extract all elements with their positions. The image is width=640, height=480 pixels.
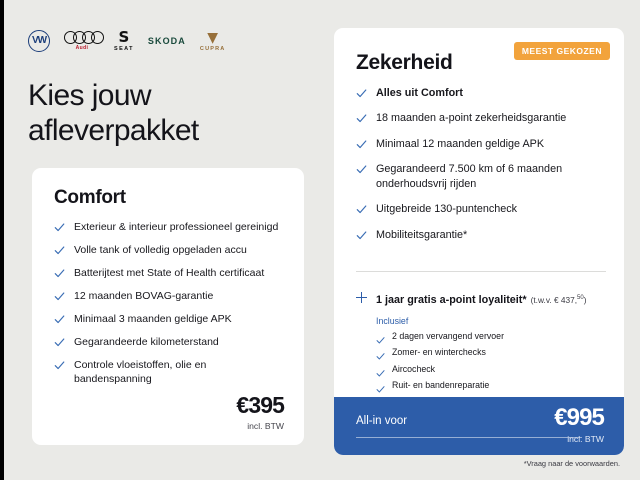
allin-rule: [356, 437, 582, 438]
feature-text: Controle vloeistoffen, olie en bandenspa…: [74, 358, 286, 386]
loyalty-value: (t.w.v. € 437,50): [531, 295, 587, 305]
plus-icon: [356, 292, 367, 303]
list-item: 2 dagen vervangend vervoer: [376, 331, 566, 342]
brand-logo-strip: VW Audi S SEAT SKODA ▼ CUPRA: [28, 30, 225, 52]
skoda-wordmark: SKODA: [148, 36, 186, 46]
allin-label: All-in voor: [356, 415, 407, 427]
feature-text: Minimaal 3 maanden geldige APK: [74, 312, 232, 326]
check-icon: [54, 222, 65, 233]
check-icon: [356, 204, 367, 215]
list-item: 12 maanden BOVAG-garantie: [54, 289, 286, 303]
list-item: Gegarandeerde kilometerstand: [54, 335, 286, 349]
check-icon: [356, 164, 367, 175]
list-item: Gegarandeerd 7.500 km of 6 maanden onder…: [356, 162, 606, 191]
list-item: Controle vloeistoffen, olie en bandenspa…: [54, 358, 286, 386]
comfort-price: €395: [236, 394, 284, 417]
check-icon: [376, 348, 385, 357]
zekerheid-price-note: incl. BTW: [554, 434, 604, 444]
zekerheid-title: Zekerheid: [356, 51, 453, 75]
feature-text: 12 maanden BOVAG-garantie: [74, 289, 213, 303]
status-badge: MEEST GEKOZEN: [514, 42, 610, 60]
inclusief-title: Inclusief: [376, 316, 566, 326]
cupra-mark: ▼: [207, 31, 218, 45]
vw-mark: VW: [28, 30, 50, 52]
cupra-logo-icon: ▼ CUPRA: [200, 31, 226, 52]
list-item: Minimaal 12 maanden geldige APK: [356, 137, 606, 151]
zekerheid-feature-list: Alles uit Comfort18 maanden a-point zeke…: [356, 86, 606, 253]
allin-price-bar: All-in voor €995 incl. BTW: [334, 397, 624, 455]
list-item: Aircocheck: [376, 364, 566, 375]
comfort-price-note: incl. BTW: [236, 421, 284, 431]
check-icon: [376, 381, 385, 390]
check-icon: [356, 139, 367, 150]
feature-text: 18 maanden a-point zekerheidsgarantie: [376, 111, 566, 125]
comfort-feature-list: Exterieur & interieur professioneel gere…: [54, 220, 286, 396]
list-item: Exterieur & interieur professioneel gere…: [54, 220, 286, 234]
zekerheid-price: €995: [554, 406, 604, 430]
list-item: Uitgebreide 130-puntencheck: [356, 202, 606, 216]
inclusief-list: 2 dagen vervangend vervoerZomer- en wint…: [376, 331, 566, 392]
check-icon: [376, 332, 385, 341]
inclusief-text: Ruit- en bandenreparatie: [392, 380, 489, 391]
audi-wordmark: Audi: [76, 45, 89, 51]
seat-logo-icon: S SEAT: [114, 30, 134, 52]
check-icon: [54, 314, 65, 325]
list-item: Ruit- en bandenreparatie: [376, 380, 566, 391]
seat-mark: S: [119, 30, 130, 45]
zekerheid-package-card[interactable]: MEEST GEKOZEN Zekerheid Alles uit Comfor…: [334, 28, 624, 455]
feature-text: Mobiliteitsgarantie*: [376, 228, 467, 242]
skoda-logo-icon: SKODA: [148, 36, 186, 46]
divider: [356, 271, 606, 272]
seat-wordmark: SEAT: [114, 46, 134, 52]
cupra-wordmark: CUPRA: [200, 46, 226, 52]
feature-text: Gegarandeerd 7.500 km of 6 maanden onder…: [376, 162, 606, 191]
footnote: *Vraag naar de voorwaarden.: [524, 459, 620, 468]
check-icon: [54, 360, 65, 371]
feature-text: Exterieur & interieur professioneel gere…: [74, 220, 278, 234]
loyalty-label: 1 jaar gratis a-point loyaliteit*: [376, 294, 527, 306]
comfort-price-block: €395 incl. BTW: [236, 394, 284, 431]
audi-logo-icon: Audi: [64, 31, 100, 51]
promo-stage: VW Audi S SEAT SKODA ▼ CUPRA Kies jouw a…: [4, 0, 640, 480]
volkswagen-logo-icon: VW: [28, 30, 50, 52]
check-icon: [54, 291, 65, 302]
feature-text: Gegarandeerde kilometerstand: [74, 335, 219, 349]
inclusief-block: Inclusief 2 dagen vervangend vervoerZome…: [376, 316, 566, 397]
check-icon: [356, 88, 367, 99]
comfort-title: Comfort: [54, 187, 126, 209]
check-icon: [356, 230, 367, 241]
inclusief-text: Zomer- en winterchecks: [392, 347, 486, 358]
check-icon: [54, 245, 65, 256]
list-item: Minimaal 3 maanden geldige APK: [54, 312, 286, 326]
loyalty-highlight-row: 1 jaar gratis a-point loyaliteit*(t.w.v.…: [356, 290, 608, 308]
check-icon: [376, 365, 385, 374]
feature-text: Volle tank of volledig opgeladen accu: [74, 243, 247, 257]
list-item: Volle tank of volledig opgeladen accu: [54, 243, 286, 257]
feature-text: Uitgebreide 130-puntencheck: [376, 202, 517, 216]
inclusief-text: 2 dagen vervangend vervoer: [392, 331, 504, 342]
comfort-package-card[interactable]: Comfort Exterieur & interieur profession…: [32, 168, 304, 445]
list-item: Batterijtest met State of Health certifi…: [54, 266, 286, 280]
page-title: Kies jouw afleverpakket: [28, 78, 308, 148]
list-item: 18 maanden a-point zekerheidsgarantie: [356, 111, 606, 125]
audi-rings-mark: [64, 31, 100, 44]
check-icon: [54, 337, 65, 348]
check-icon: [356, 113, 367, 124]
feature-text: Batterijtest met State of Health certifi…: [74, 266, 264, 280]
check-icon: [54, 268, 65, 279]
list-item: Alles uit Comfort: [356, 86, 606, 100]
inclusief-text: Aircocheck: [392, 364, 435, 375]
list-item: Mobiliteitsgarantie*: [356, 228, 606, 242]
allin-price-block: €995 incl. BTW: [554, 406, 604, 444]
feature-text: Minimaal 12 maanden geldige APK: [376, 137, 544, 151]
feature-text: Alles uit Comfort: [376, 86, 463, 100]
list-item: Zomer- en winterchecks: [376, 347, 566, 358]
